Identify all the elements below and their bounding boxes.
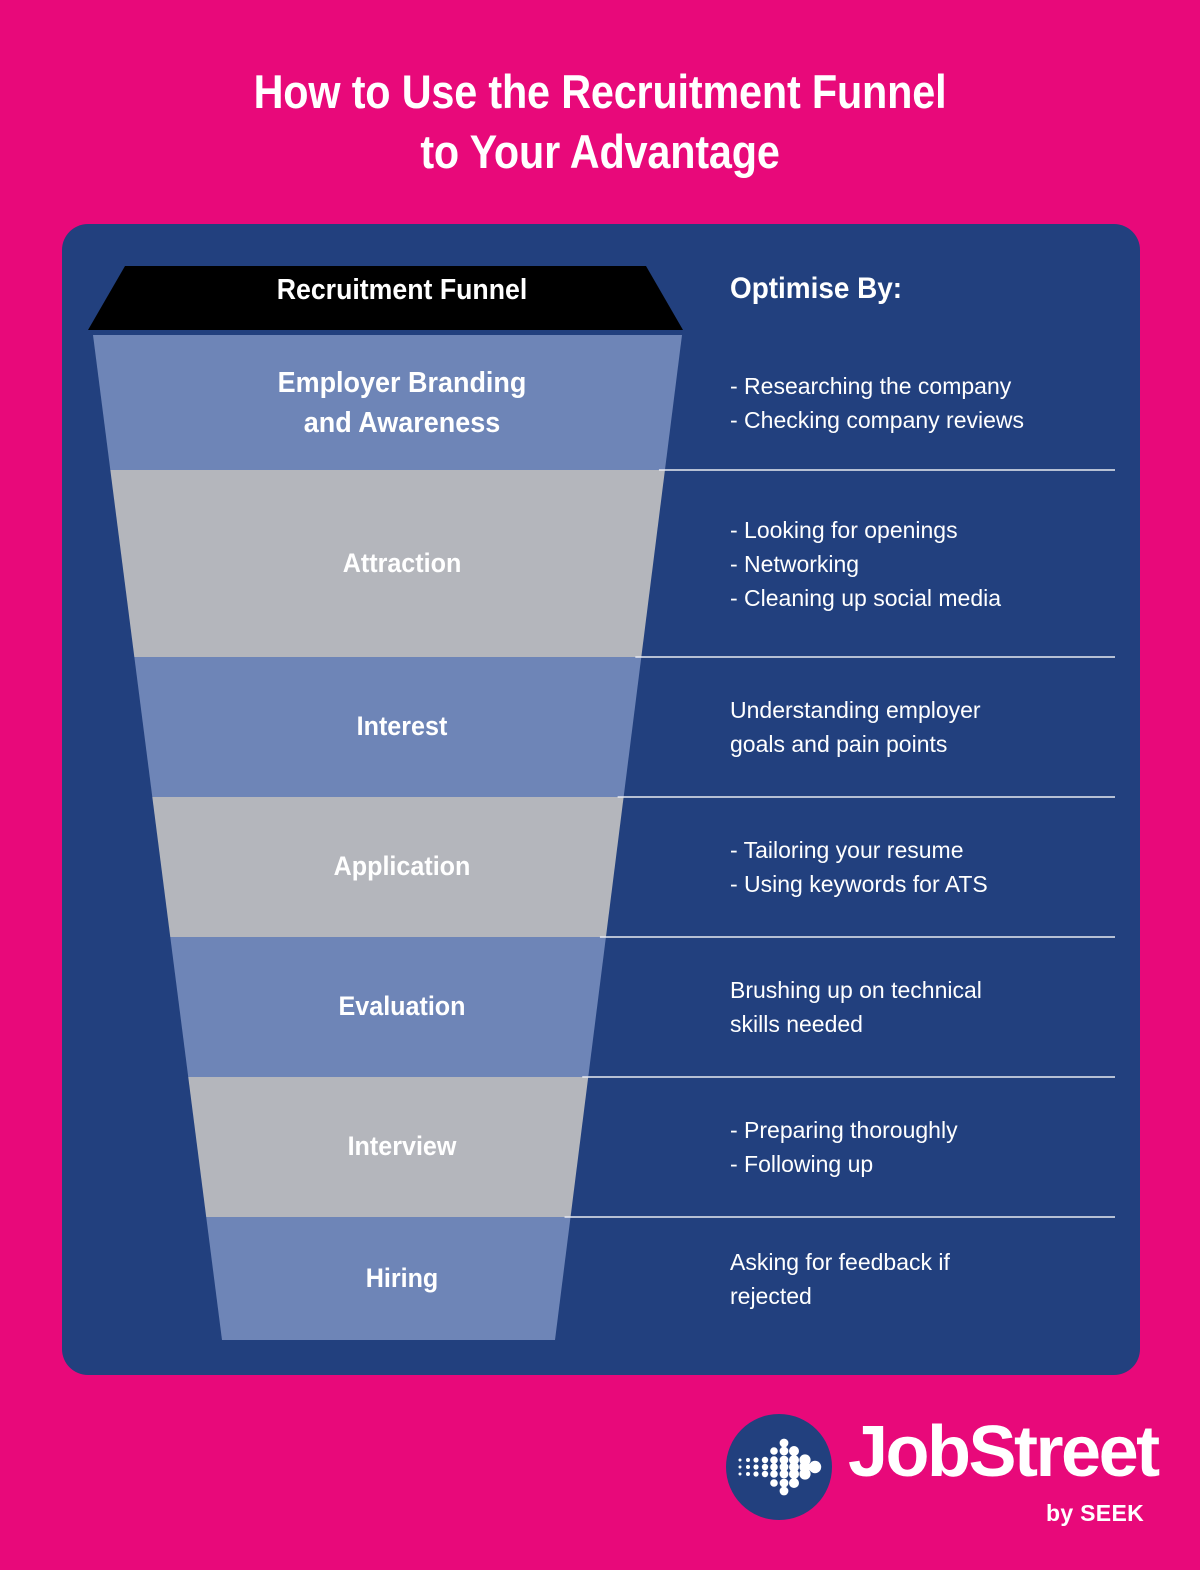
optimise-cell-7: Asking for feedback ifrejected	[730, 1245, 1140, 1313]
logo-dot	[770, 1463, 778, 1471]
optimise-line: - Following up	[730, 1147, 1140, 1181]
logo-dot	[753, 1457, 758, 1462]
logo-dot	[799, 1468, 810, 1479]
logo-dot	[746, 1458, 750, 1462]
optimise-line: - Cleaning up social media	[730, 581, 1140, 615]
optimise-line: - Researching the company	[730, 369, 1140, 403]
logo-dot	[789, 1446, 799, 1456]
dotted-arrow-right-icon	[726, 1414, 832, 1520]
optimise-cell-6: - Preparing thoroughly- Following up	[730, 1113, 1140, 1181]
logo-dot	[780, 1470, 789, 1479]
funnel-stage-band	[93, 335, 682, 470]
jobstreet-logo: JobStreet by SEEK	[726, 1408, 1146, 1538]
logo-dot	[780, 1439, 789, 1448]
funnel-stage-band	[152, 797, 623, 937]
optimise-cell-2: - Looking for openings- Networking- Clea…	[730, 513, 1140, 615]
logo-dot	[739, 1466, 742, 1469]
logo-dot	[770, 1447, 778, 1455]
logo-dot	[780, 1487, 789, 1496]
optimise-line: - Networking	[730, 547, 1140, 581]
jobstreet-wordmark: JobStreet	[848, 1416, 1158, 1488]
logo-dot	[809, 1461, 821, 1473]
page-title-line2: to Your Advantage	[72, 122, 1128, 182]
page-title-line1: How to Use the Recruitment Funnel	[254, 65, 947, 118]
logo-dot	[789, 1469, 799, 1479]
logo-dot	[762, 1464, 768, 1470]
funnel-stage-band	[188, 1077, 588, 1217]
optimise-cell-5: Brushing up on technicalskills needed	[730, 973, 1140, 1041]
optimise-line: Asking for feedback if	[730, 1245, 1140, 1279]
optimise-line: - Looking for openings	[730, 513, 1140, 547]
optimise-line: - Preparing thoroughly	[730, 1113, 1140, 1147]
jobstreet-tagline: by SEEK	[1046, 1500, 1144, 1527]
logo-dot	[739, 1459, 742, 1462]
optimise-cell-3: Understanding employergoals and pain poi…	[730, 693, 1140, 761]
optimise-line: - Using keywords for ATS	[730, 867, 1140, 901]
page-title: How to Use the Recruitment Funnel to You…	[72, 62, 1128, 182]
logo-dot	[762, 1457, 768, 1463]
optimise-line: rejected	[730, 1279, 1140, 1313]
funnel-stage-shapes	[93, 335, 682, 1340]
optimise-cell-4: - Tailoring your resume- Using keywords …	[730, 833, 1140, 901]
logo-dot	[753, 1464, 758, 1469]
logo-dot	[746, 1472, 750, 1476]
funnel-stage-band	[134, 657, 641, 797]
logo-dot	[789, 1478, 799, 1488]
funnel-stage-band	[206, 1217, 570, 1340]
logo-dot	[739, 1473, 742, 1476]
logo-dot	[780, 1447, 789, 1456]
logo-dot	[753, 1471, 758, 1476]
logo-dot	[762, 1471, 768, 1477]
funnel-stage-band	[110, 470, 665, 657]
funnel-stage-band	[170, 937, 606, 1077]
optimise-line: - Tailoring your resume	[730, 833, 1140, 867]
optimise-line: skills needed	[730, 1007, 1140, 1041]
optimise-by-header-label: Optimise By:	[730, 272, 902, 306]
logo-dot	[746, 1465, 750, 1469]
logo-dot	[780, 1479, 789, 1488]
optimise-line: Brushing up on technical	[730, 973, 1140, 1007]
logo-dot	[770, 1470, 778, 1478]
logo-dot	[770, 1479, 778, 1487]
optimise-line: Understanding employer	[730, 693, 1140, 727]
recruitment-funnel-header-label: Recruitment Funnel	[119, 274, 686, 307]
funnel-card: Recruitment Funnel Optimise By: Employer…	[62, 224, 1140, 1375]
optimise-line: - Checking company reviews	[730, 403, 1140, 437]
logo-dot	[770, 1456, 778, 1464]
optimise-line: goals and pain points	[730, 727, 1140, 761]
funnel-card-inner: Recruitment Funnel Optimise By: Employer…	[62, 224, 1140, 1375]
optimise-cell-1: - Researching the company- Checking comp…	[730, 369, 1140, 437]
